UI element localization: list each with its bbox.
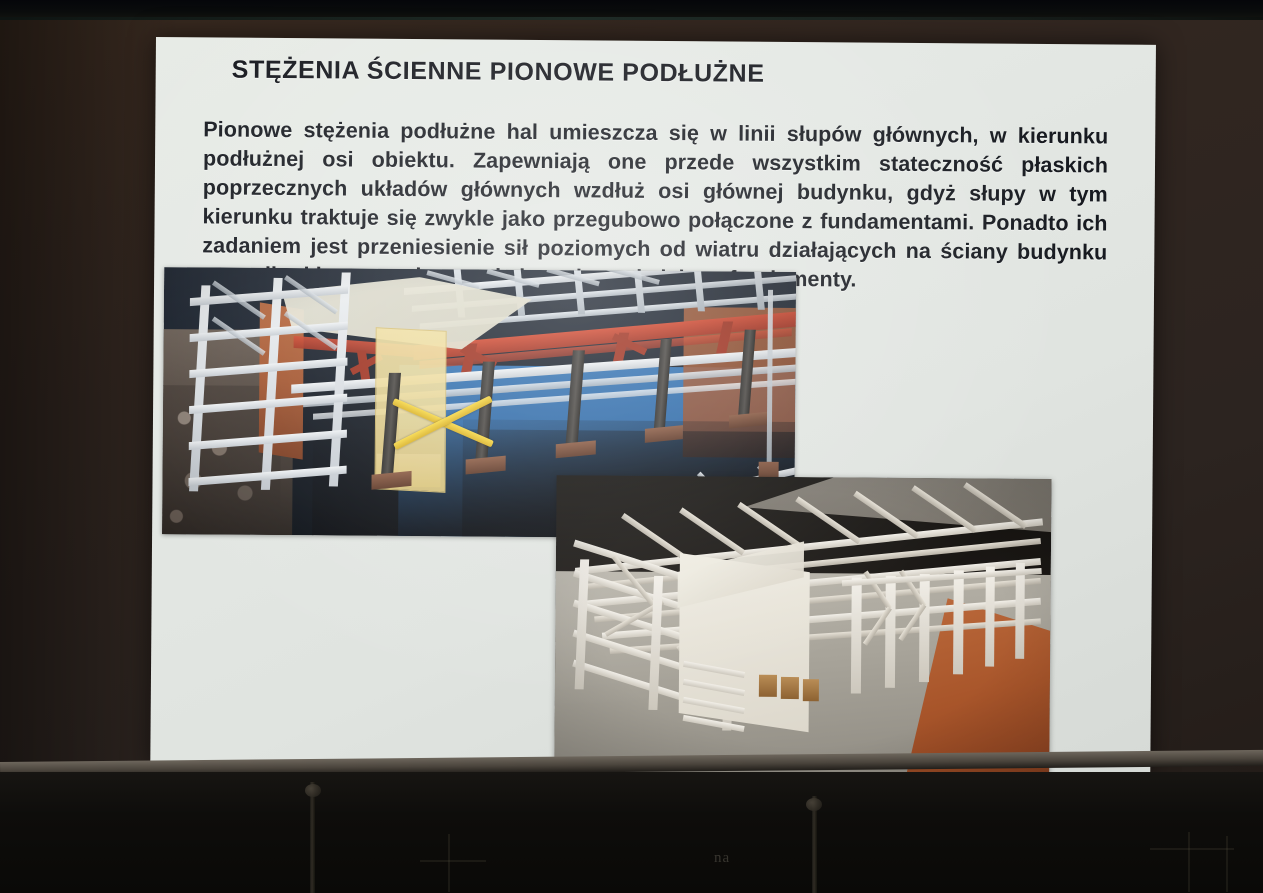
chalk-stroke-v3: [1226, 836, 1228, 892]
photo2-far-column-3: [919, 574, 930, 682]
photo2-window-2: [781, 677, 799, 699]
photo2-far-column-1: [851, 577, 862, 693]
photo-white-hall-frame-model-on-table: [554, 475, 1051, 776]
photo2-far-column-5: [985, 567, 995, 667]
slide-title: STĘŻENIA ŚCIENNE PIONOWE PODŁUŻNE: [232, 56, 1032, 91]
lecture-room-scene: STĘŻENIA ŚCIENNE PIONOWE PODŁUŻNE Pionow…: [0, 0, 1263, 893]
photo2-window-1: [759, 675, 777, 697]
photo2-far-column-6: [1015, 563, 1025, 659]
blackboard: na: [0, 772, 1263, 893]
photo2-far-column-2: [885, 576, 896, 688]
chalk-stroke-v2: [1188, 832, 1190, 892]
photo2-window-3: [803, 679, 819, 701]
chalk-stroke-h2: [1150, 848, 1234, 850]
chalk-stroke-v: [448, 834, 450, 892]
blackboard-rail-1: [310, 782, 315, 893]
chalk-stroke-h: [420, 860, 486, 862]
photo2-far-column-4: [953, 570, 964, 674]
chalk-text-na: na: [714, 850, 730, 867]
blackboard-rail-knob-2: [806, 798, 822, 811]
projected-slide: STĘŻENIA ŚCIENNE PIONOWE PODŁUŻNE Pionow…: [150, 37, 1156, 775]
blackboard-rail-knob-1: [305, 784, 321, 797]
